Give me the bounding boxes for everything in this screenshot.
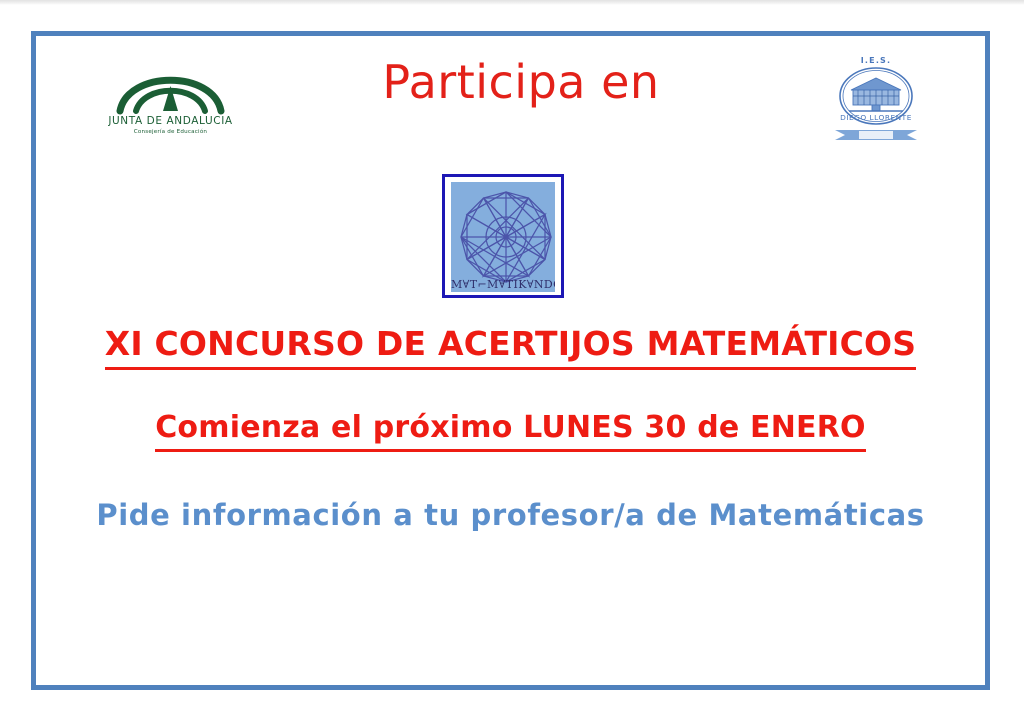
junta-logo-line1: JUNTA DE ANDALUCIA [108, 115, 233, 127]
junta-logo-line2: Consejería de Educación [134, 128, 208, 135]
matematikando-logo: M∀T⌐M∀TIK∀NDO [442, 174, 564, 298]
contest-heading: XI CONCURSO DE ACERTIJOS MATEMÁTICOS [41, 324, 980, 370]
start-date-heading: Comienza el próximo LUNES 30 de ENERO [41, 410, 980, 452]
ies-logo-line1: I.E.S. [861, 56, 892, 65]
ies-logo-line2: DIEGO LLORENTE [840, 113, 912, 122]
start-date-text: Comienza el próximo LUNES 30 de ENERO [155, 410, 866, 452]
contest-heading-text: XI CONCURSO DE ACERTIJOS MATEMÁTICOS [105, 324, 917, 370]
poster-header: JUNTA DE ANDALUCIA Consejería de Educaci… [36, 36, 985, 146]
poster-frame: JUNTA DE ANDALUCIA Consejería de Educaci… [31, 31, 990, 690]
junta-de-andalucia-logo: JUNTA DE ANDALUCIA Consejería de Educaci… [108, 54, 233, 142]
matematikando-image: M∀T⌐M∀TIK∀NDO [451, 182, 555, 292]
matematikando-caption: M∀T⌐M∀TIK∀NDO [451, 278, 555, 291]
page-title: Participa en [286, 54, 756, 110]
info-line: Pide información a tu profesor/a de Mate… [41, 498, 980, 532]
ies-diego-llorente-logo: I.E.S. [821, 50, 931, 146]
top-edge-strip [0, 0, 1024, 5]
